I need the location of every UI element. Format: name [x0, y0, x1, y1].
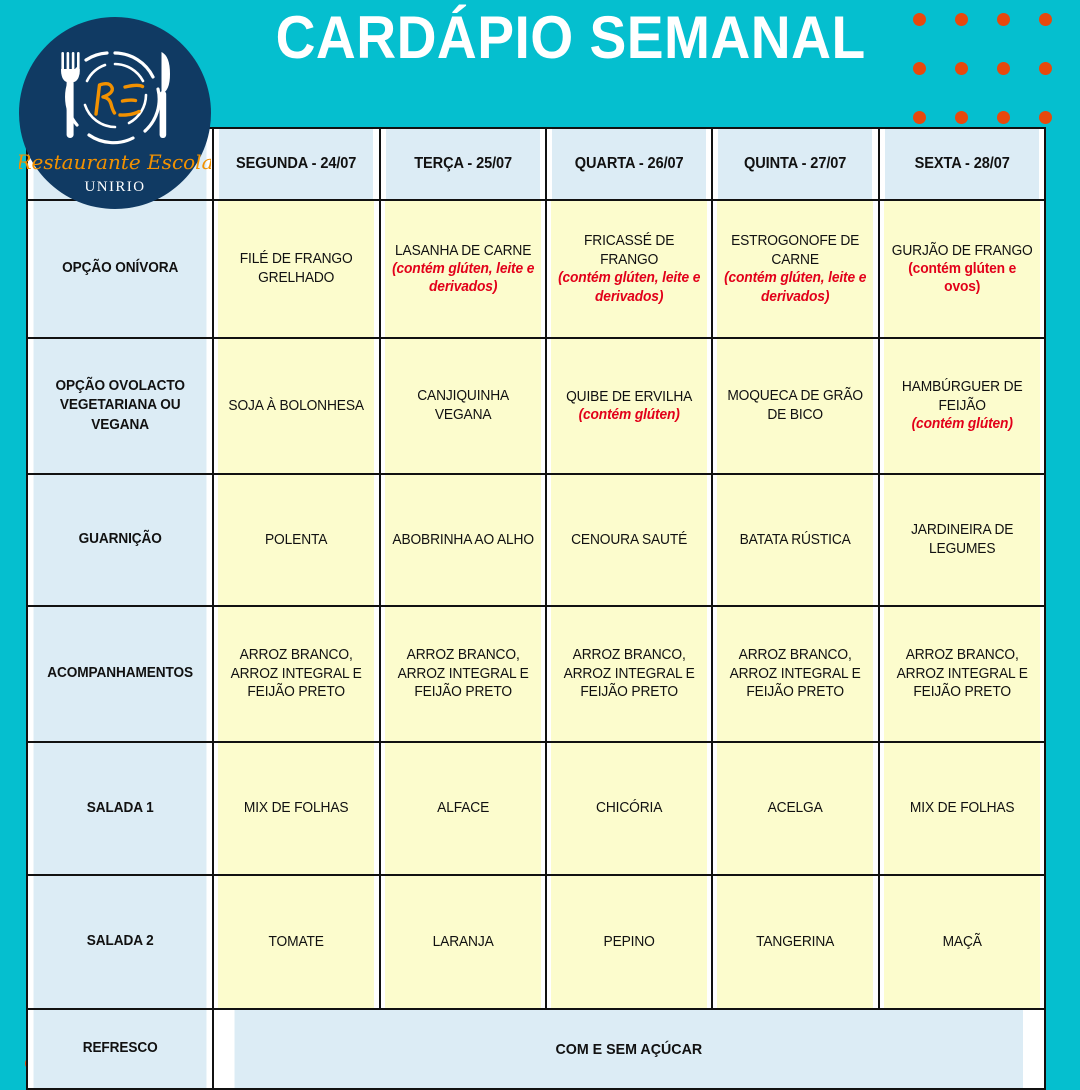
table-row: OPÇÃO ONÍVORA FILÉ DE FRANGO GRELHADO LA… — [27, 200, 1045, 338]
table-row: SALADA 2 TOMATE LARANJA PEPINO TANGERINA… — [27, 875, 1045, 1009]
row-label-salada-1: SALADA 1 — [33, 742, 208, 875]
menu-cell: ESTROGONOFE DE CARNE (contém glúten, lei… — [716, 200, 874, 338]
plate-inner-ring-icon — [85, 64, 146, 127]
dish-name: LASANHA DE CARNE — [395, 243, 531, 259]
decorative-dot — [913, 111, 926, 124]
menu-cell: ACELGA — [716, 742, 874, 875]
decorative-dot — [1039, 62, 1052, 75]
day-header-quinta: QUINTA - 27/07 — [717, 128, 873, 200]
dish-name: FILÉ DE FRANGO GRELHADO — [240, 251, 353, 286]
row-label-refresco: REFRESCO — [33, 1009, 208, 1089]
refresco-value: COM E SEM AÇÚCAR — [234, 1009, 1024, 1089]
row-label-onivora: OPÇÃO ONÍVORA — [33, 200, 208, 338]
menu-cell: MAÇÃ — [883, 875, 1041, 1009]
day-header-quarta: QUARTA - 26/07 — [551, 128, 707, 200]
allergen-note: (contém glúten, leite e derivados) — [556, 269, 703, 305]
table-row: SALADA 1 MIX DE FOLHAS ALFACE CHICÓRIA A… — [27, 742, 1045, 875]
menu-cell: MOQUECA DE GRÃO DE BICO — [716, 338, 874, 474]
logo-institution: UNIRIO — [85, 179, 146, 195]
menu-cell: ARROZ BRANCO, ARROZ INTEGRAL E FEIJÃO PR… — [384, 606, 542, 742]
menu-cell: MIX DE FOLHAS — [218, 742, 376, 875]
decorative-dot — [997, 13, 1010, 26]
decorative-dot — [913, 13, 926, 26]
menu-cell: ARROZ BRANCO, ARROZ INTEGRAL E FEIJÃO PR… — [218, 606, 376, 742]
menu-cell: QUIBE DE ERVILHA (contém glúten) — [550, 338, 708, 474]
menu-cell: TOMATE — [218, 875, 376, 1009]
page-title: CARDÁPIO SEMANAL — [276, 6, 865, 71]
menu-cell: GURJÃO DE FRANGO (contém glúten e ovos) — [883, 200, 1041, 338]
restaurante-escola-logo: Restaurante Escola UNIRIO — [19, 17, 211, 209]
decorative-dot — [913, 62, 926, 75]
monogram-re — [96, 84, 143, 115]
menu-cell: LASANHA DE CARNE (contém glúten, leite e… — [384, 200, 542, 338]
knife-icon — [160, 52, 170, 138]
day-header-sexta: SEXTA - 28/07 — [884, 128, 1040, 200]
menu-cell: CENOURA SAUTÉ — [550, 474, 708, 606]
row-label-acompanhamentos: ACOMPANHAMENTOS — [33, 606, 208, 742]
dish-name: ESTROGONOFE DE CARNE — [731, 233, 859, 268]
menu-cell: MIX DE FOLHAS — [883, 742, 1041, 875]
allergen-note: (contém glúten, leite e derivados) — [722, 269, 869, 305]
menu-cell: PEPINO — [550, 875, 708, 1009]
table-row: OPÇÃO OVOLACTO VEGETARIANA OU VEGANA SOJ… — [27, 338, 1045, 474]
table-row: REFRESCO COM E SEM AÇÚCAR — [27, 1009, 1045, 1089]
dish-name: CANJIQUINHA VEGANA — [417, 388, 509, 423]
row-label-guarnicao: GUARNIÇÃO — [33, 474, 208, 606]
decorative-dot — [1039, 111, 1052, 124]
decorative-dot — [997, 111, 1010, 124]
allergen-note: (contém glúten e ovos) — [888, 260, 1035, 296]
allergen-note: (contém glúten) — [556, 406, 703, 424]
decorative-dot — [955, 62, 968, 75]
dish-name: FRICASSÉ DE FRANGO — [584, 233, 674, 268]
menu-cell: JARDINEIRA DE LEGUMES — [883, 474, 1041, 606]
table-row: GUARNIÇÃO POLENTA ABOBRINHA AO ALHO CENO… — [27, 474, 1045, 606]
logo-name: Restaurante Escola — [19, 150, 211, 174]
menu-cell: LARANJA — [384, 875, 542, 1009]
decorative-dot — [955, 111, 968, 124]
table-row: ACOMPANHAMENTOS ARROZ BRANCO, ARROZ INTE… — [27, 606, 1045, 742]
menu-cell: ABOBRINHA AO ALHO — [384, 474, 542, 606]
row-label-vegetariana: OPÇÃO OVOLACTO VEGETARIANA OU VEGANA — [33, 338, 208, 474]
table-body: OPÇÃO ONÍVORA FILÉ DE FRANGO GRELHADO LA… — [27, 200, 1045, 1089]
menu-cell: HAMBÚRGUER DE FEIJÃO (contém glúten) — [883, 338, 1041, 474]
dish-name: MOQUECA DE GRÃO DE BICO — [728, 388, 864, 423]
day-header-segunda: SEGUNDA - 24/07 — [218, 128, 374, 200]
menu-cell: ARROZ BRANCO, ARROZ INTEGRAL E FEIJÃO PR… — [550, 606, 708, 742]
menu-cell: CHICÓRIA — [550, 742, 708, 875]
menu-cell: CANJIQUINHA VEGANA — [384, 338, 542, 474]
dish-name: QUIBE DE ERVILHA — [566, 389, 692, 405]
decorative-dot — [1039, 13, 1052, 26]
dish-name: SOJA À BOLONHESA — [229, 398, 365, 414]
menu-cell: POLENTA — [218, 474, 376, 606]
menu-cell: ALFACE — [384, 742, 542, 875]
allergen-note: (contém glúten, leite e derivados) — [390, 260, 537, 296]
dish-name: HAMBÚRGUER DE FEIJÃO — [902, 379, 1023, 414]
logo-artwork: Restaurante Escola UNIRIO — [19, 17, 211, 209]
menu-cell: SOJA À BOLONHESA — [218, 338, 376, 474]
allergen-note: (contém glúten) — [888, 415, 1035, 433]
decorative-dot — [997, 62, 1010, 75]
menu-cell: BATATA RÚSTICA — [716, 474, 874, 606]
menu-cell: ARROZ BRANCO, ARROZ INTEGRAL E FEIJÃO PR… — [716, 606, 874, 742]
dish-name: GURJÃO DE FRANGO — [891, 243, 1032, 259]
decorative-dot — [955, 13, 968, 26]
menu-cell: ARROZ BRANCO, ARROZ INTEGRAL E FEIJÃO PR… — [883, 606, 1041, 742]
menu-cell: TANGERINA — [716, 875, 874, 1009]
menu-cell: FRICASSÉ DE FRANGO (contém glúten, leite… — [550, 200, 708, 338]
weekly-menu-table: SEGUNDA - 24/07 TERÇA - 25/07 QUARTA - 2… — [26, 127, 1046, 1090]
day-header-terca: TERÇA - 25/07 — [385, 128, 541, 200]
menu-cell: FILÉ DE FRANGO GRELHADO — [218, 200, 376, 338]
row-label-salada-2: SALADA 2 — [33, 875, 208, 1009]
